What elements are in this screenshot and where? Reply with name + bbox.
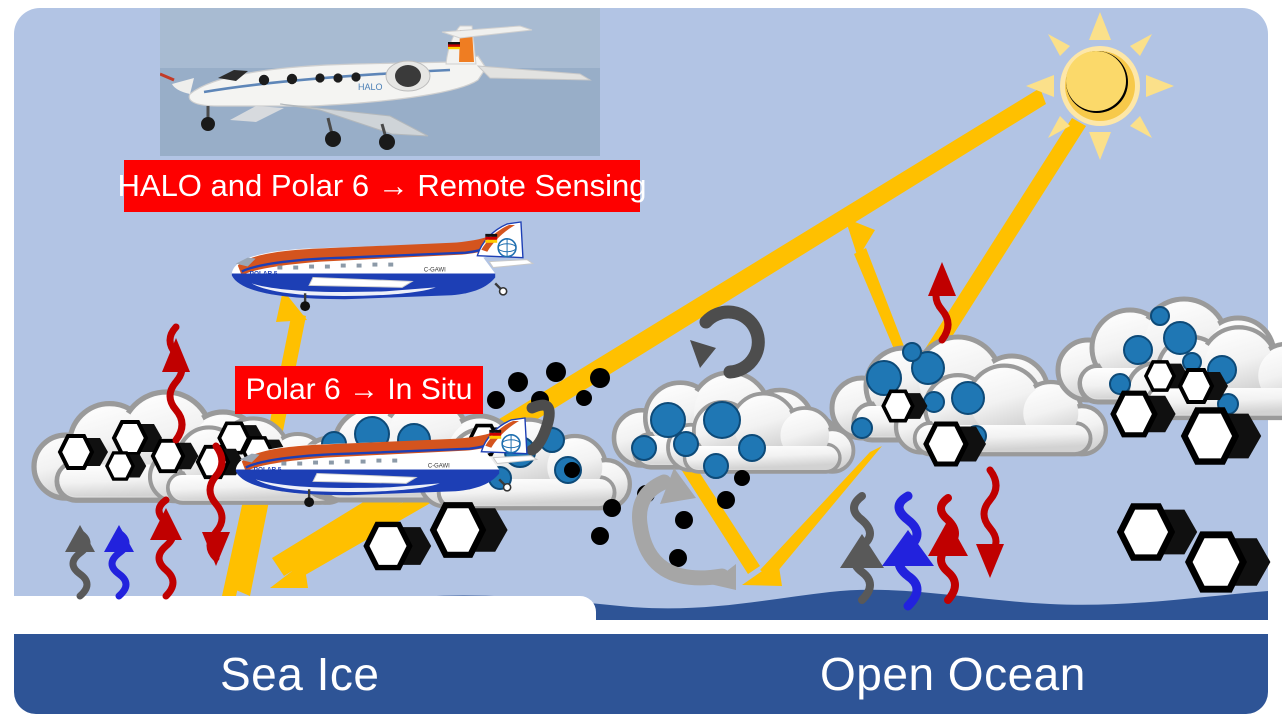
- label-in-situ: Polar 6 → In Situ: [235, 366, 483, 414]
- label-remote-sensing: HALO and Polar 6 → Remote Sensing: [124, 160, 640, 212]
- halo-aircraft-photo: HALO: [160, 8, 600, 156]
- svg-text:C-GAWI: C-GAWI: [428, 464, 450, 470]
- svg-text:POLAR 5: POLAR 5: [254, 466, 282, 473]
- svg-text:HALO: HALO: [358, 82, 383, 92]
- surface-type-banner: Sea Ice Open Ocean: [14, 634, 1268, 714]
- banner-label-sea-ice: Sea Ice: [220, 647, 380, 701]
- figure-canvas: HALO: [0, 0, 1282, 723]
- banner-label-open-ocean: Open Ocean: [820, 647, 1086, 701]
